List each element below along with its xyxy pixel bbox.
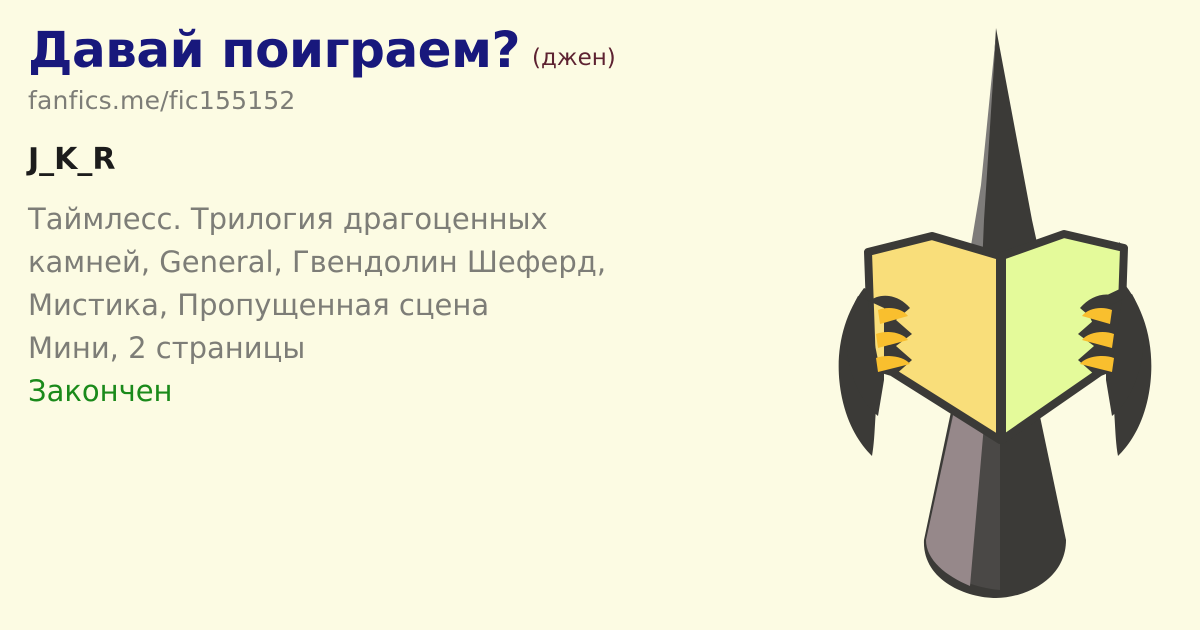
fanfic-preview-card: Давай поиграем? (джен) fanfics.me/fic155…: [0, 0, 1200, 630]
fic-text-column: Давай поиграем? (джен) fanfics.me/fic155…: [28, 24, 848, 413]
fic-meta-line: Мистика, Пропущенная сцена: [28, 284, 848, 327]
fic-url[interactable]: fanfics.me/fic155152: [28, 87, 848, 115]
witch-reading-book-icon: [814, 20, 1174, 620]
fic-meta-line: Мини, 2 страницы: [28, 327, 848, 370]
fic-meta-line: Таймлесс. Трилогия драгоценных: [28, 198, 848, 241]
page-title: Давай поиграем?: [28, 24, 520, 77]
title-row: Давай поиграем? (джен): [28, 24, 848, 77]
fic-author-name[interactable]: J_K_R: [28, 143, 848, 176]
fic-meta-line: камней, General, Гвендолин Шеферд,: [28, 241, 848, 284]
fic-category-subtitle: (джен): [532, 47, 616, 70]
status-badge: Закончен: [28, 370, 848, 413]
witch-reading-book-illustration: [814, 20, 1174, 620]
fic-metadata-list: Таймлесс. Трилогия драгоценных камней, G…: [28, 198, 848, 413]
